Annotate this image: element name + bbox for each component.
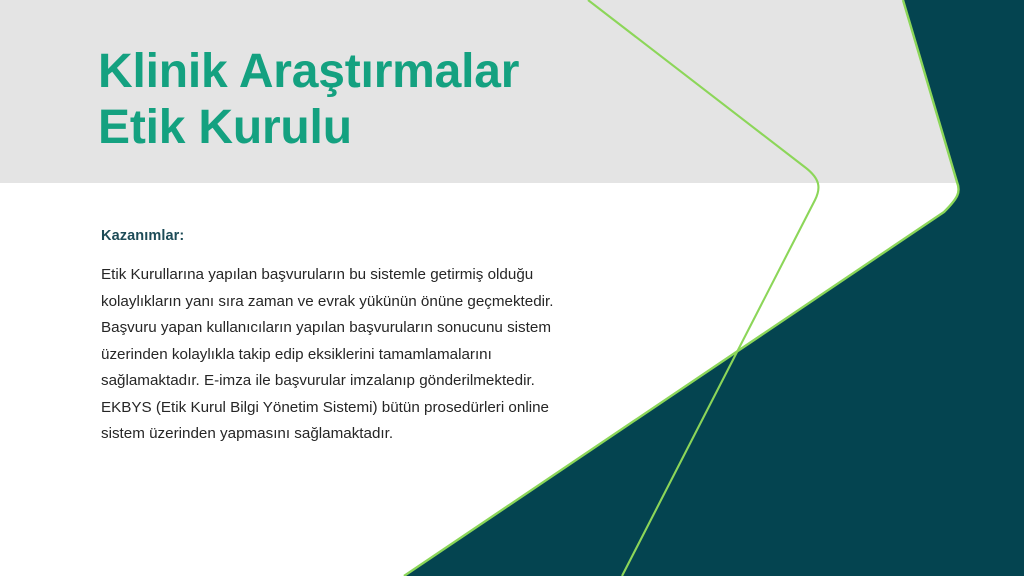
body-paragraph: Etik Kurullarına yapılan başvuruların bu… <box>101 262 581 448</box>
page-title: Klinik Araştırmalar Etik Kurulu <box>98 44 658 155</box>
slide-content: Klinik Araştırmalar Etik Kurulu Kazanıml… <box>0 0 1024 576</box>
page-title-line-2: Etik Kurulu <box>98 100 658 156</box>
page-title-line-1: Klinik Araştırmalar <box>98 44 658 100</box>
slide-canvas: Klinik Araştırmalar Etik Kurulu Kazanıml… <box>0 0 1024 576</box>
body-section: Kazanımlar: Etik Kurullarına yapılan baş… <box>101 228 601 448</box>
section-kicker-label: Kazanımlar: <box>101 228 601 244</box>
